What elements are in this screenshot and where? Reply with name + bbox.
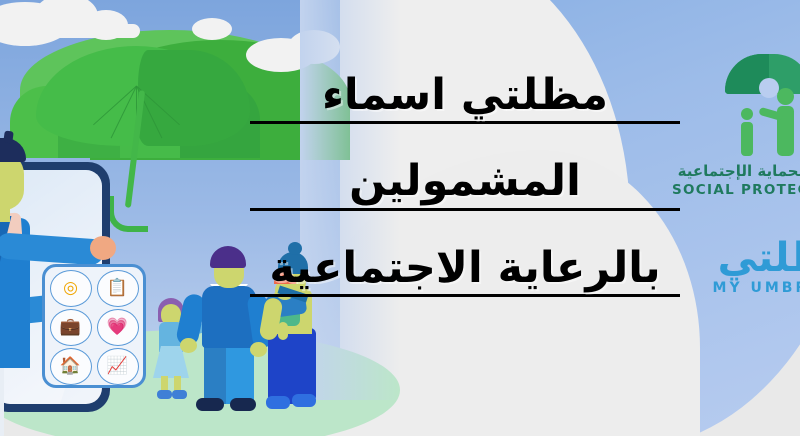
documents-briefcase-icon[interactable]: 💼 [50, 309, 92, 346]
father-hair [210, 246, 246, 268]
clipboard-checklist-icon[interactable]: 📋 [97, 270, 139, 307]
search-coin-icon[interactable]: ◎ [50, 270, 92, 307]
umbrella-canopy-shade [138, 50, 250, 146]
app-icon-grid: ◎ 📋 💼 💗 🏠 📈 [42, 264, 146, 388]
father-body [202, 286, 256, 348]
my-umbrella-logo: مظلتي MY UMBRELLA [686, 238, 800, 296]
banner-image: ◎ 📋 💼 💗 🏠 📈 [0, 0, 800, 436]
my-umbrella-arabic-text: مظلتي [686, 238, 800, 278]
man-leg [0, 360, 4, 436]
spa-logo-arabic-text: هيئة الحماية الإجتماعية [672, 162, 800, 180]
social-protection-authority-logo: هيئة الحماية الإجتماعية SOCIAL PROTECTIO… [672, 52, 800, 198]
headline-line-3: بالرعاية الاجتماعية [250, 245, 680, 297]
headline-line-2: المشمولين [250, 158, 680, 210]
umbrella-family-icon [707, 52, 800, 160]
headline-line-1: مظلتي اسماء [250, 72, 680, 124]
headline: مظلتي اسماء المشمولين بالرعاية الاجتماعي… [250, 72, 680, 297]
man-hand-holding-umbrella [90, 236, 116, 260]
heart-pulse-icon[interactable]: 💗 [97, 309, 139, 346]
spa-logo-english-text: SOCIAL PROTECTION AUTHORITY [672, 182, 800, 198]
house-icon[interactable]: 🏠 [50, 348, 92, 385]
my-umbrella-english-text: MY UMBRELLA [686, 280, 800, 296]
chart-presentation-icon[interactable]: 📈 [97, 348, 139, 385]
mother-skirt [268, 328, 316, 404]
